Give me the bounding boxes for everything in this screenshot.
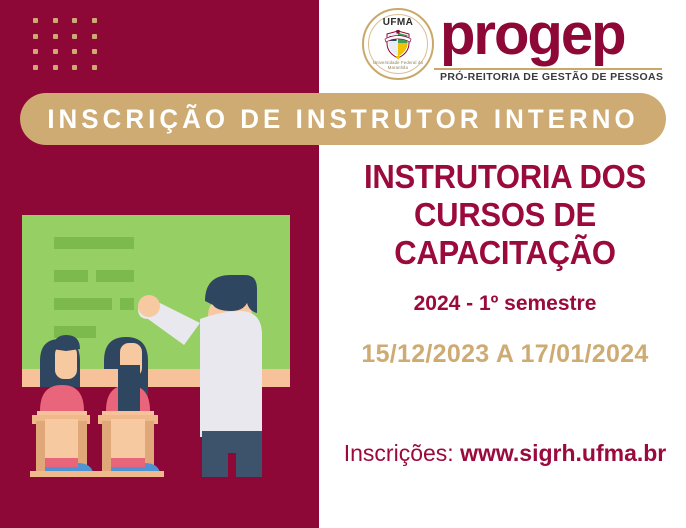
dot (72, 18, 77, 23)
seal-subtitle: Universidade Federal do Maranhão (362, 60, 434, 70)
dot (53, 49, 58, 54)
progep-logo: UFMA Universidade Federal do Maranhão pr… (362, 6, 662, 86)
date-range-label: 15/12/2023 A 17/01/2024 (330, 340, 680, 369)
dot (33, 49, 38, 54)
dot-grid-decoration (33, 18, 111, 80)
classroom-illustration (22, 215, 312, 477)
poster-root: UFMA Universidade Federal do Maranhão pr… (0, 0, 686, 528)
dot (53, 65, 58, 70)
dot (33, 18, 38, 23)
dot (53, 34, 58, 39)
seal-ufma-label: UFMA (362, 17, 434, 28)
progep-tagline: PRÓ-REITORIA DE GESTÃO DE PESSOAS (440, 71, 663, 83)
main-text-column: INSTRUTORIA DOS CURSOS DE CAPACITAÇÃO 20… (330, 158, 680, 369)
ufma-seal-icon: UFMA Universidade Federal do Maranhão (362, 8, 434, 80)
heading-line-2: CURSOS DE (341, 196, 670, 234)
seal-coat-of-arms-icon (384, 30, 412, 60)
dot (72, 34, 77, 39)
dot (72, 49, 77, 54)
dot (33, 65, 38, 70)
dot (92, 18, 97, 23)
heading-line-3: CAPACITAÇÃO (341, 234, 670, 272)
dot (72, 65, 77, 70)
dot (92, 65, 97, 70)
dot (92, 49, 97, 54)
logo-divider-rule (434, 68, 662, 70)
heading-line-1: INSTRUTORIA DOS (341, 158, 670, 196)
signup-line: Inscrições: www.sigrh.ufma.br (330, 440, 680, 467)
progep-wordmark: progep (440, 6, 625, 64)
dot (92, 34, 97, 39)
signup-label: Inscrições: (344, 440, 454, 466)
title-ribbon-banner: INSCRIÇÃO DE INSTRUTOR INTERNO (20, 93, 666, 145)
signup-url[interactable]: www.sigrh.ufma.br (460, 440, 666, 466)
ribbon-title: INSCRIÇÃO DE INSTRUTOR INTERNO (47, 104, 638, 135)
dot (33, 34, 38, 39)
dot (53, 18, 58, 23)
semester-label: 2024 - 1º semestre (330, 292, 680, 316)
